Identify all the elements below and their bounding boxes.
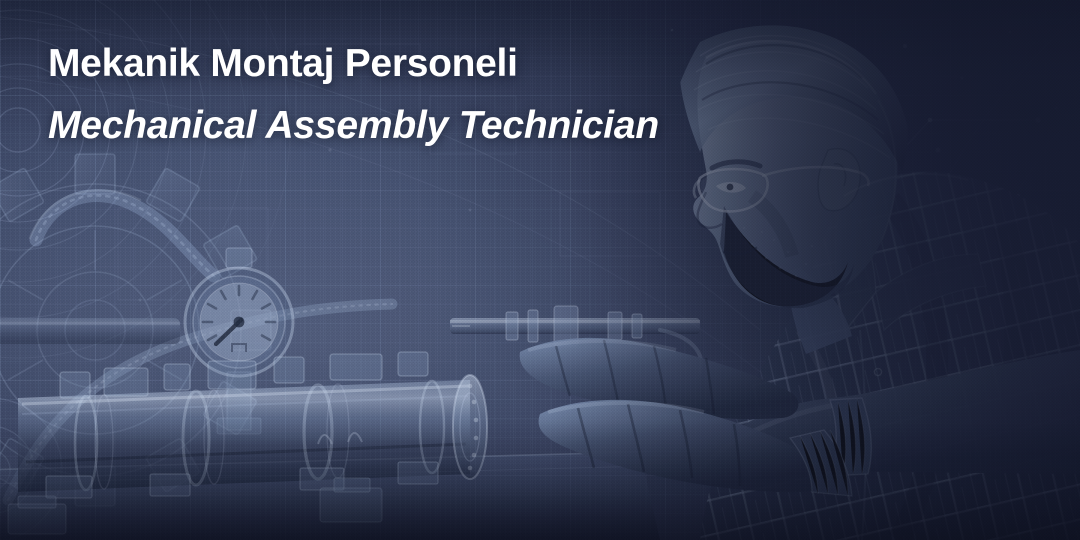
gear-outline (0, 154, 271, 506)
job-title-turkish: Mekanik Montaj Personeli (48, 40, 659, 88)
plaid-shirt (690, 160, 1080, 540)
pipe-assembly (18, 352, 487, 498)
pressure-gauge (185, 248, 293, 434)
workbench (0, 452, 660, 540)
safety-glasses (694, 167, 869, 211)
forearm (700, 350, 1080, 476)
pipe-flange (453, 375, 487, 479)
work-gloves (520, 338, 852, 496)
bench-blocks (8, 478, 382, 534)
technician-head (679, 12, 907, 354)
flexible-hose (8, 190, 392, 500)
shaft-assembly (450, 306, 701, 372)
rim-light (706, 41, 968, 240)
secondary-pipe (0, 318, 180, 344)
job-title-english: Mechanical Assembly Technician (48, 102, 659, 150)
hud-nodes (886, 118, 1064, 239)
gear-outline-secondary (0, 398, 62, 540)
job-banner: Mekanik Montaj Personeli Mechanical Asse… (0, 0, 1080, 540)
banner-title-block: Mekanik Montaj Personeli Mechanical Asse… (48, 40, 659, 150)
